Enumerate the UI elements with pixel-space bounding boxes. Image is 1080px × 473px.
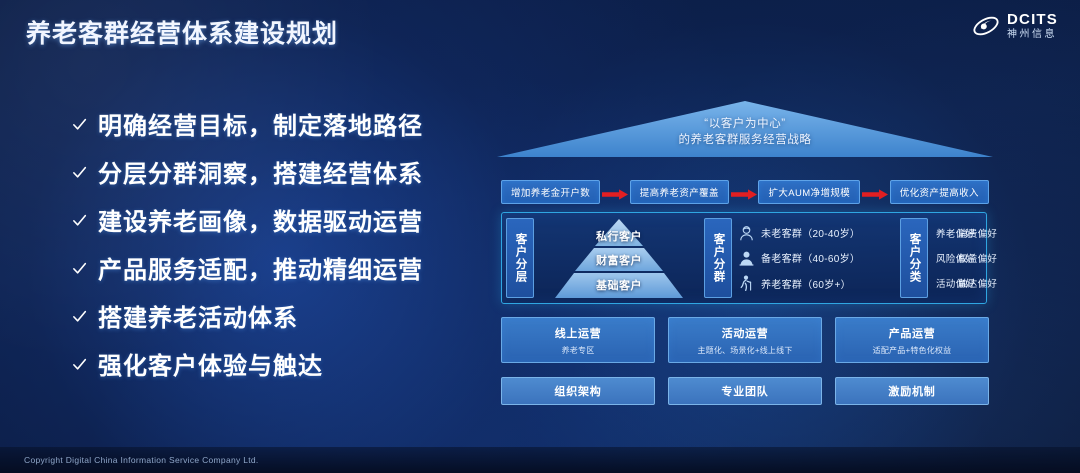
foundation-row: 组织架构 专业团队 激励机制 [501, 377, 989, 405]
logo-text-en: DCITS [1007, 12, 1058, 27]
copyright-text: Copyright Digital China Information Serv… [24, 455, 259, 465]
list-item: 未老客群（20-40岁） [739, 225, 900, 241]
customer-class-label: 客户分类 [900, 218, 928, 298]
foundation-card[interactable]: 激励机制 [835, 377, 989, 405]
kpi-box[interactable]: 提高养老资产覆盖 [630, 180, 729, 204]
check-icon [72, 261, 87, 276]
slide-canvas: 养老客群经营体系建设规划 DCITS 神州信息 明确经营目标，制定落地路径 分层 [0, 0, 1080, 473]
page-title: 养老客群经营体系建设规划 [26, 14, 338, 50]
right-arrow-icon [602, 187, 628, 198]
foundation-card[interactable]: 组织架构 [501, 377, 655, 405]
young-person-icon [739, 225, 754, 241]
strategy-diagram: “以客户为中心” 的养老客群服务经营战略 增加养老金开户数 提高养老资产覆盖 扩… [495, 95, 995, 425]
operation-card-subtitle: 适配产品+特色化权益 [873, 345, 952, 356]
kpi-box[interactable]: 增加养老金开户数 [501, 180, 600, 204]
check-icon [72, 165, 87, 180]
list-item: 明确经营目标，制定落地路径 [72, 106, 423, 141]
operation-card-title: 产品运营 [889, 325, 935, 341]
list-item-label: 搭建养老活动体系 [98, 298, 298, 333]
check-icon [72, 309, 87, 324]
preference-tag: 触达偏好 [958, 275, 980, 291]
list-item: 养老客群（60岁+） [739, 275, 900, 291]
segmentation-panel: 客户分层 [501, 212, 987, 304]
right-arrow-icon [862, 187, 888, 198]
list-item-label: 养老客群（60岁+） [761, 276, 851, 291]
operation-card[interactable]: 线上运营 养老专区 [501, 317, 655, 363]
operation-card-subtitle: 养老专区 [562, 345, 595, 356]
kpi-chain: 增加养老金开户数 提高养老资产覆盖 扩大AUM净增规模 优化资产提高收入 [501, 181, 989, 203]
customer-layer-label: 客户分层 [506, 218, 534, 298]
preference-tag: 消费偏好 [958, 225, 980, 241]
customer-class-tags: 养老偏好 消费偏好 风险偏好 权益偏好 活动偏好 触达偏好 [928, 217, 982, 299]
dcits-swirl-logo-icon [972, 12, 1000, 40]
customer-class-label-text: 客户分类 [908, 233, 921, 283]
logo-text-cn: 神州信息 [1007, 30, 1058, 40]
preference-tag: 活动偏好 [936, 275, 958, 291]
kpi-box[interactable]: 优化资产提高收入 [890, 180, 989, 204]
check-icon [72, 213, 87, 228]
list-item: 备老客群（40-60岁） [739, 250, 900, 266]
list-item-label: 明确经营目标，制定落地路径 [98, 106, 423, 141]
list-item-label: 产品服务适配，推动精细运营 [98, 250, 423, 285]
list-item: 建设养老画像，数据驱动运营 [72, 202, 423, 237]
operation-card-title: 活动运营 [722, 325, 768, 341]
list-item-label: 分层分群洞察，搭建经营体系 [98, 154, 423, 189]
pyramid-tier-label: 基础客户 [534, 277, 704, 293]
pyramid-tier-label: 私行客户 [534, 228, 704, 244]
brand-logo: DCITS 神州信息 [972, 12, 1058, 40]
preference-tag: 风险偏好 [936, 250, 958, 266]
elderly-person-cane-icon [739, 275, 754, 291]
foundation-card[interactable]: 专业团队 [668, 377, 822, 405]
key-points-list: 明确经营目标，制定落地路径 分层分群洞察，搭建经营体系 建设养老画像，数据驱动运… [72, 106, 423, 381]
operation-card[interactable]: 产品运营 适配产品+特色化权益 [835, 317, 989, 363]
customer-group-label: 客户分群 [704, 218, 732, 298]
list-item-label: 建设养老画像，数据驱动运营 [98, 202, 423, 237]
roof-line-1: “以客户为中心” [495, 117, 995, 133]
preference-tag: 养老偏好 [936, 225, 958, 241]
preference-tag: 权益偏好 [958, 250, 980, 266]
list-item-label: 备老客群（40-60岁） [761, 250, 860, 265]
middle-age-person-icon [739, 250, 754, 266]
footer-bar: Copyright Digital China Information Serv… [0, 447, 1080, 473]
list-item: 分层分群洞察，搭建经营体系 [72, 154, 423, 189]
customer-layer-pyramid: 私行客户 财富客户 基础客户 [534, 217, 704, 299]
strategy-roof-text: “以客户为中心” 的养老客群服务经营战略 [495, 117, 995, 148]
customer-layer-label-text: 客户分层 [514, 233, 527, 283]
list-item-label: 未老客群（20-40岁） [761, 225, 860, 240]
list-item: 搭建养老活动体系 [72, 298, 423, 333]
operation-card-title: 线上运营 [555, 325, 601, 341]
pyramid-tier-label: 财富客户 [534, 252, 704, 268]
kpi-box[interactable]: 扩大AUM净增规模 [758, 180, 860, 204]
list-item-label: 强化客户体验与触达 [98, 346, 323, 381]
list-item: 产品服务适配，推动精细运营 [72, 250, 423, 285]
check-icon [72, 117, 87, 132]
operation-card[interactable]: 活动运营 主题化、场景化+线上线下 [668, 317, 822, 363]
roof-line-2: 的养老客群服务经营战略 [495, 133, 995, 149]
right-arrow-icon [731, 187, 757, 198]
operations-row: 线上运营 养老专区 活动运营 主题化、场景化+线上线下 产品运营 适配产品+特色… [501, 317, 989, 363]
customer-group-label-text: 客户分群 [712, 233, 725, 283]
list-item: 强化客户体验与触达 [72, 346, 423, 381]
check-icon [72, 357, 87, 372]
operation-card-subtitle: 主题化、场景化+线上线下 [697, 345, 792, 356]
customer-group-list: 未老客群（20-40岁） 备老客群（40-60岁） 养老客群（60岁+） [732, 217, 900, 299]
